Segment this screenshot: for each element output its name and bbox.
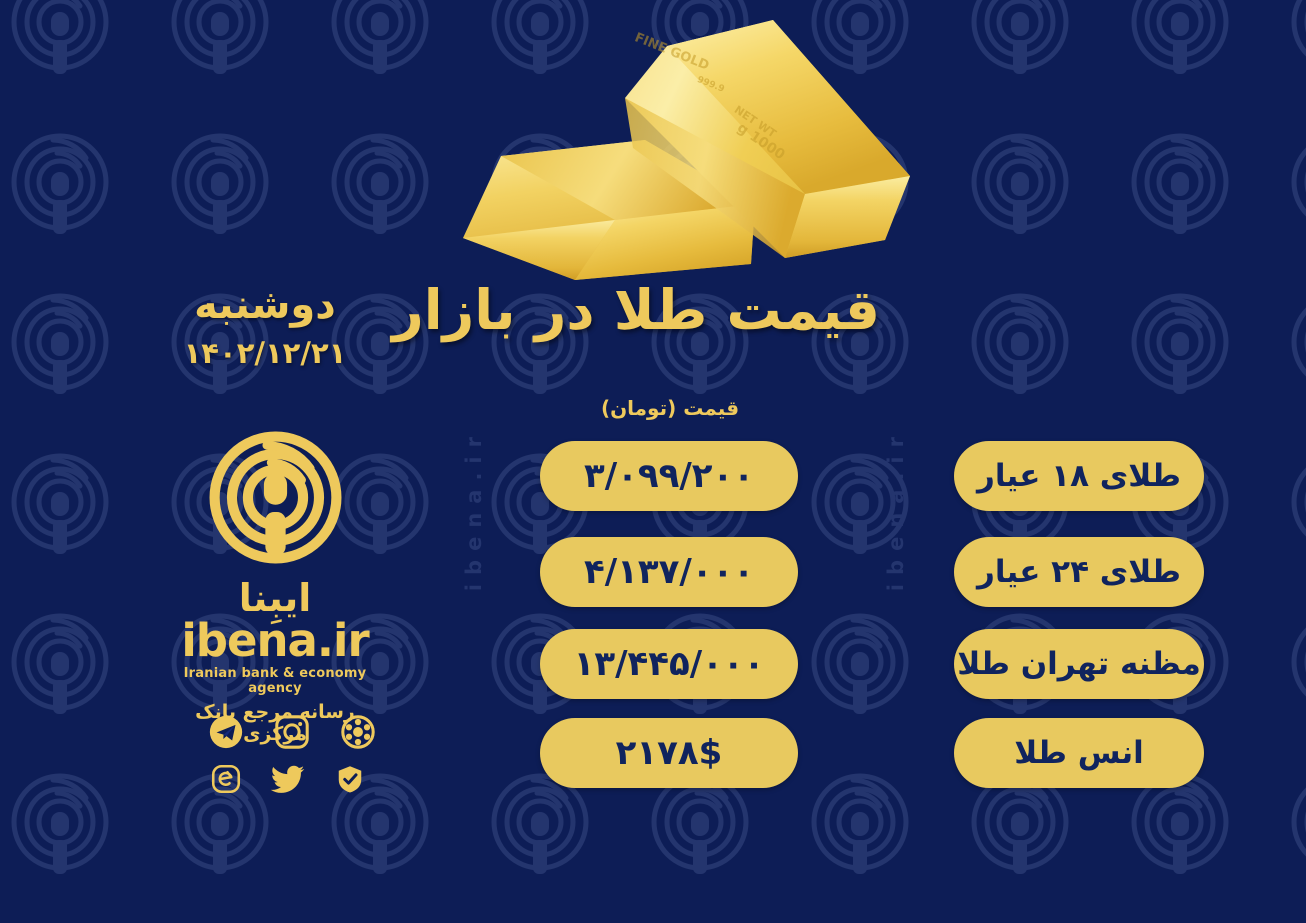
logo-head [263, 473, 286, 505]
brand-tagline-en: Iranian bank & economy agency [175, 666, 375, 696]
watermark-right: ibena.ir [884, 428, 908, 591]
watermark-left: ibena.ir [462, 428, 486, 591]
category-pill: طلای ۱۸ عیار [954, 441, 1204, 511]
brand-block: ایبِنا ibena.ir Iranian bank & economy a… [175, 425, 375, 745]
price-pill: ۱۳/۴۴۵/۰۰۰ [540, 629, 798, 699]
telegram-icon[interactable] [207, 713, 245, 751]
price-pill: ۳/۰۹۹/۲۰۰ [540, 441, 798, 511]
category-pill: طلای ۲۴ عیار [954, 537, 1204, 607]
twitter-icon[interactable] [269, 760, 307, 798]
bale-icon[interactable] [335, 764, 365, 794]
price-column-header: قیمت (تومان) [540, 396, 800, 420]
date-numeric: ۱۴۰۲/۱۲/۲۱ [150, 336, 380, 370]
eitaa-icon[interactable] [211, 764, 241, 794]
price-pill: ۲۱۷۸$ [540, 718, 798, 788]
gold-price-infographic: ibena.ir ibena.ir [0, 0, 1306, 923]
social-links-row-1 [207, 713, 377, 751]
date-block: دوشنبه ۱۴۰۲/۱۲/۲۱ [150, 282, 380, 370]
category-pill: مظنه تهران طلا [954, 629, 1204, 699]
date-weekday: دوشنبه [150, 282, 380, 328]
social-links-row-2 [211, 760, 365, 798]
brand-name-latin: ibena.ir [175, 618, 375, 663]
gold-bars-illustration: FINE GOLD 999.9 NET WT 1000 g [455, 8, 925, 298]
page-title: قیمت طلا در بازار [430, 278, 880, 342]
ibena-antenna-logo-icon [203, 425, 348, 570]
logo-body [265, 512, 285, 556]
aparat-icon[interactable] [339, 713, 377, 751]
category-pill: انس طلا [954, 718, 1204, 788]
instagram-icon[interactable] [273, 713, 311, 751]
price-pill: ۴/۱۳۷/۰۰۰ [540, 537, 798, 607]
